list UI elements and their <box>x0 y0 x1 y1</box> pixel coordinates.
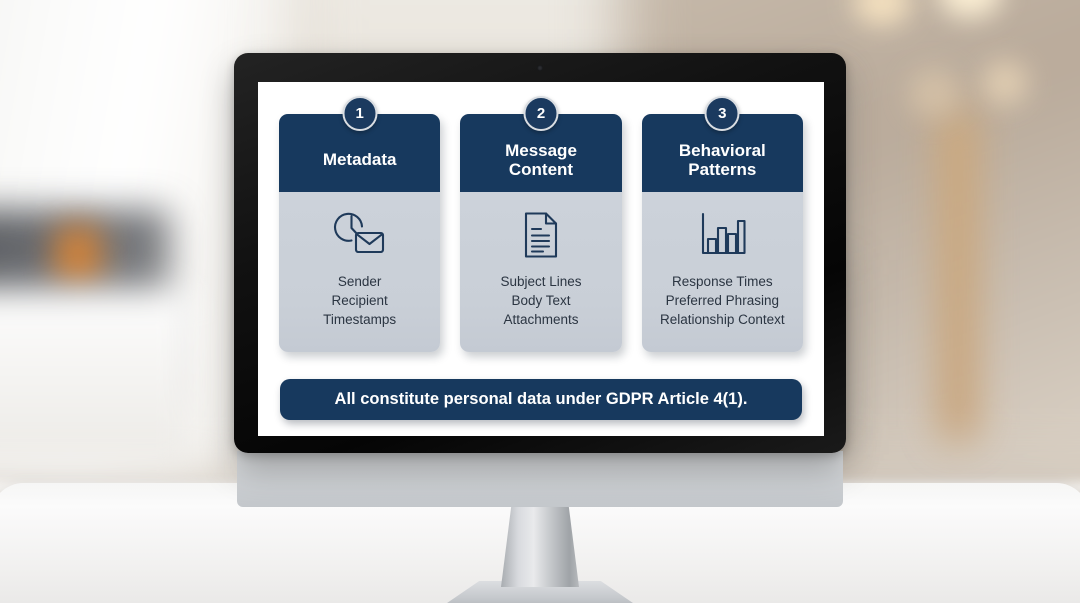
card-line: Body Text <box>500 291 581 310</box>
monitor-stand-neck <box>501 501 579 587</box>
card-inner: Metadata <box>279 114 440 352</box>
card-title-line1: Behavioral <box>679 141 766 160</box>
scene: 1 Metadata <box>0 0 1080 603</box>
bokeh-light-icon <box>982 60 1028 106</box>
card-line: Recipient <box>323 291 396 310</box>
clock-envelope-icon <box>331 206 389 264</box>
background-orange-accent <box>55 225 101 285</box>
monitor-chin <box>237 451 843 507</box>
card-title-line2: Patterns <box>688 160 756 179</box>
card-line: Preferred Phrasing <box>660 291 785 310</box>
card-line-list: Subject Lines Body Text Attachments <box>500 272 581 329</box>
card-number-badge: 2 <box>523 96 558 131</box>
bokeh-light-icon <box>908 68 960 118</box>
background-white-panel <box>0 290 195 465</box>
slide: 1 Metadata <box>258 82 824 436</box>
card-metadata[interactable]: 1 Metadata <box>279 114 440 352</box>
card-body: Subject Lines Body Text Attachments <box>460 192 621 352</box>
card-title-line1: Message <box>505 141 577 160</box>
card-number-badge: 3 <box>705 96 740 131</box>
webcam-icon <box>537 65 543 71</box>
card-line: Subject Lines <box>500 272 581 291</box>
monitor-screen[interactable]: 1 Metadata <box>258 82 824 436</box>
card-line: Relationship Context <box>660 310 785 329</box>
monitor: 1 Metadata <box>234 53 846 453</box>
card-line-list: Response Times Preferred Phrasing Relati… <box>660 272 785 329</box>
card-title-line2: Content <box>509 160 573 179</box>
background-pillar-wood <box>940 110 976 440</box>
card-line: Sender <box>323 272 396 291</box>
card-line-list: Sender Recipient Timestamps <box>323 272 396 329</box>
card-body: Response Times Preferred Phrasing Relati… <box>642 192 803 352</box>
footer-wrap: All constitute personal data under GDPR … <box>274 375 808 424</box>
document-icon <box>519 206 563 264</box>
card-behavioral-patterns[interactable]: 3 BehavioralPatterns <box>642 114 803 352</box>
card-message-content[interactable]: 2 MessageContent <box>460 114 621 352</box>
card-line: Timestamps <box>323 310 396 329</box>
card-line: Response Times <box>660 272 785 291</box>
card-number-badge: 1 <box>342 96 377 131</box>
card-body: Sender Recipient Timestamps <box>279 192 440 352</box>
bar-chart-icon <box>696 206 748 264</box>
card-line: Attachments <box>500 310 581 329</box>
card-inner: MessageContent <box>460 114 621 352</box>
card-row: 1 Metadata <box>274 100 808 352</box>
card-inner: BehavioralPatterns <box>642 114 803 352</box>
footer-banner: All constitute personal data under GDPR … <box>280 379 802 420</box>
